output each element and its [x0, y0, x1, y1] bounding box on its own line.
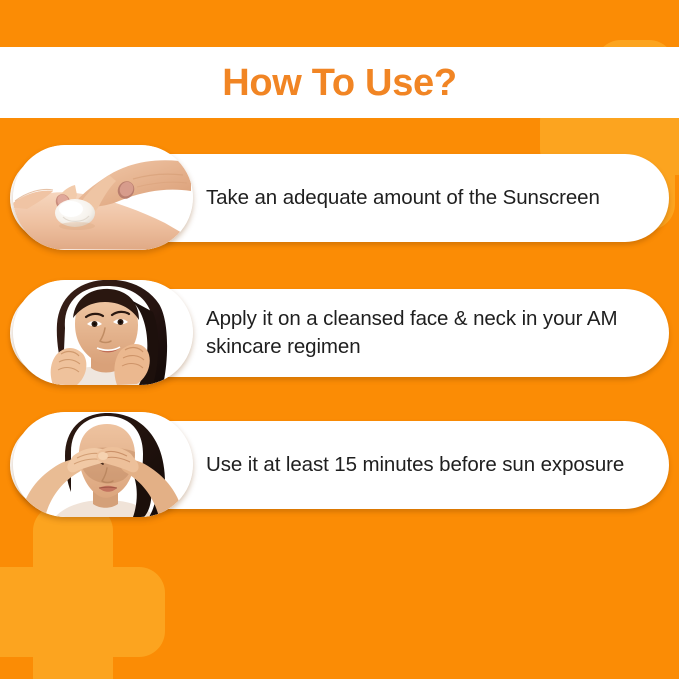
page-title: How To Use? [222, 64, 457, 102]
step-image-card [13, 412, 193, 517]
hand-with-cream-dollop-photo [13, 145, 193, 250]
woman-applying-cream-to-face-photo [13, 280, 193, 385]
step-row: Take an adequate amount of the Sunscreen [0, 145, 679, 250]
step-image-card [13, 280, 193, 385]
step-text: Take an adequate amount of the Sunscreen [206, 184, 600, 212]
step-image-card [13, 145, 193, 250]
plus-shape-bottom-left-icon [0, 505, 165, 679]
how-to-use-infographic: How To Use? Take an adequate amount of t… [0, 0, 679, 679]
plus-vertical-bar [33, 505, 113, 679]
step-text: Apply it on a cleansed face & neck in yo… [206, 305, 645, 362]
step-row: Apply it on a cleansed face & neck in yo… [0, 280, 679, 385]
plus-horizontal-bar [0, 567, 165, 657]
step-text: Use it at least 15 minutes before sun ex… [206, 451, 624, 479]
woman-shielding-eyes-from-sun-photo [13, 412, 193, 517]
title-band: How To Use? [0, 47, 679, 118]
step-row: Use it at least 15 minutes before sun ex… [0, 412, 679, 517]
